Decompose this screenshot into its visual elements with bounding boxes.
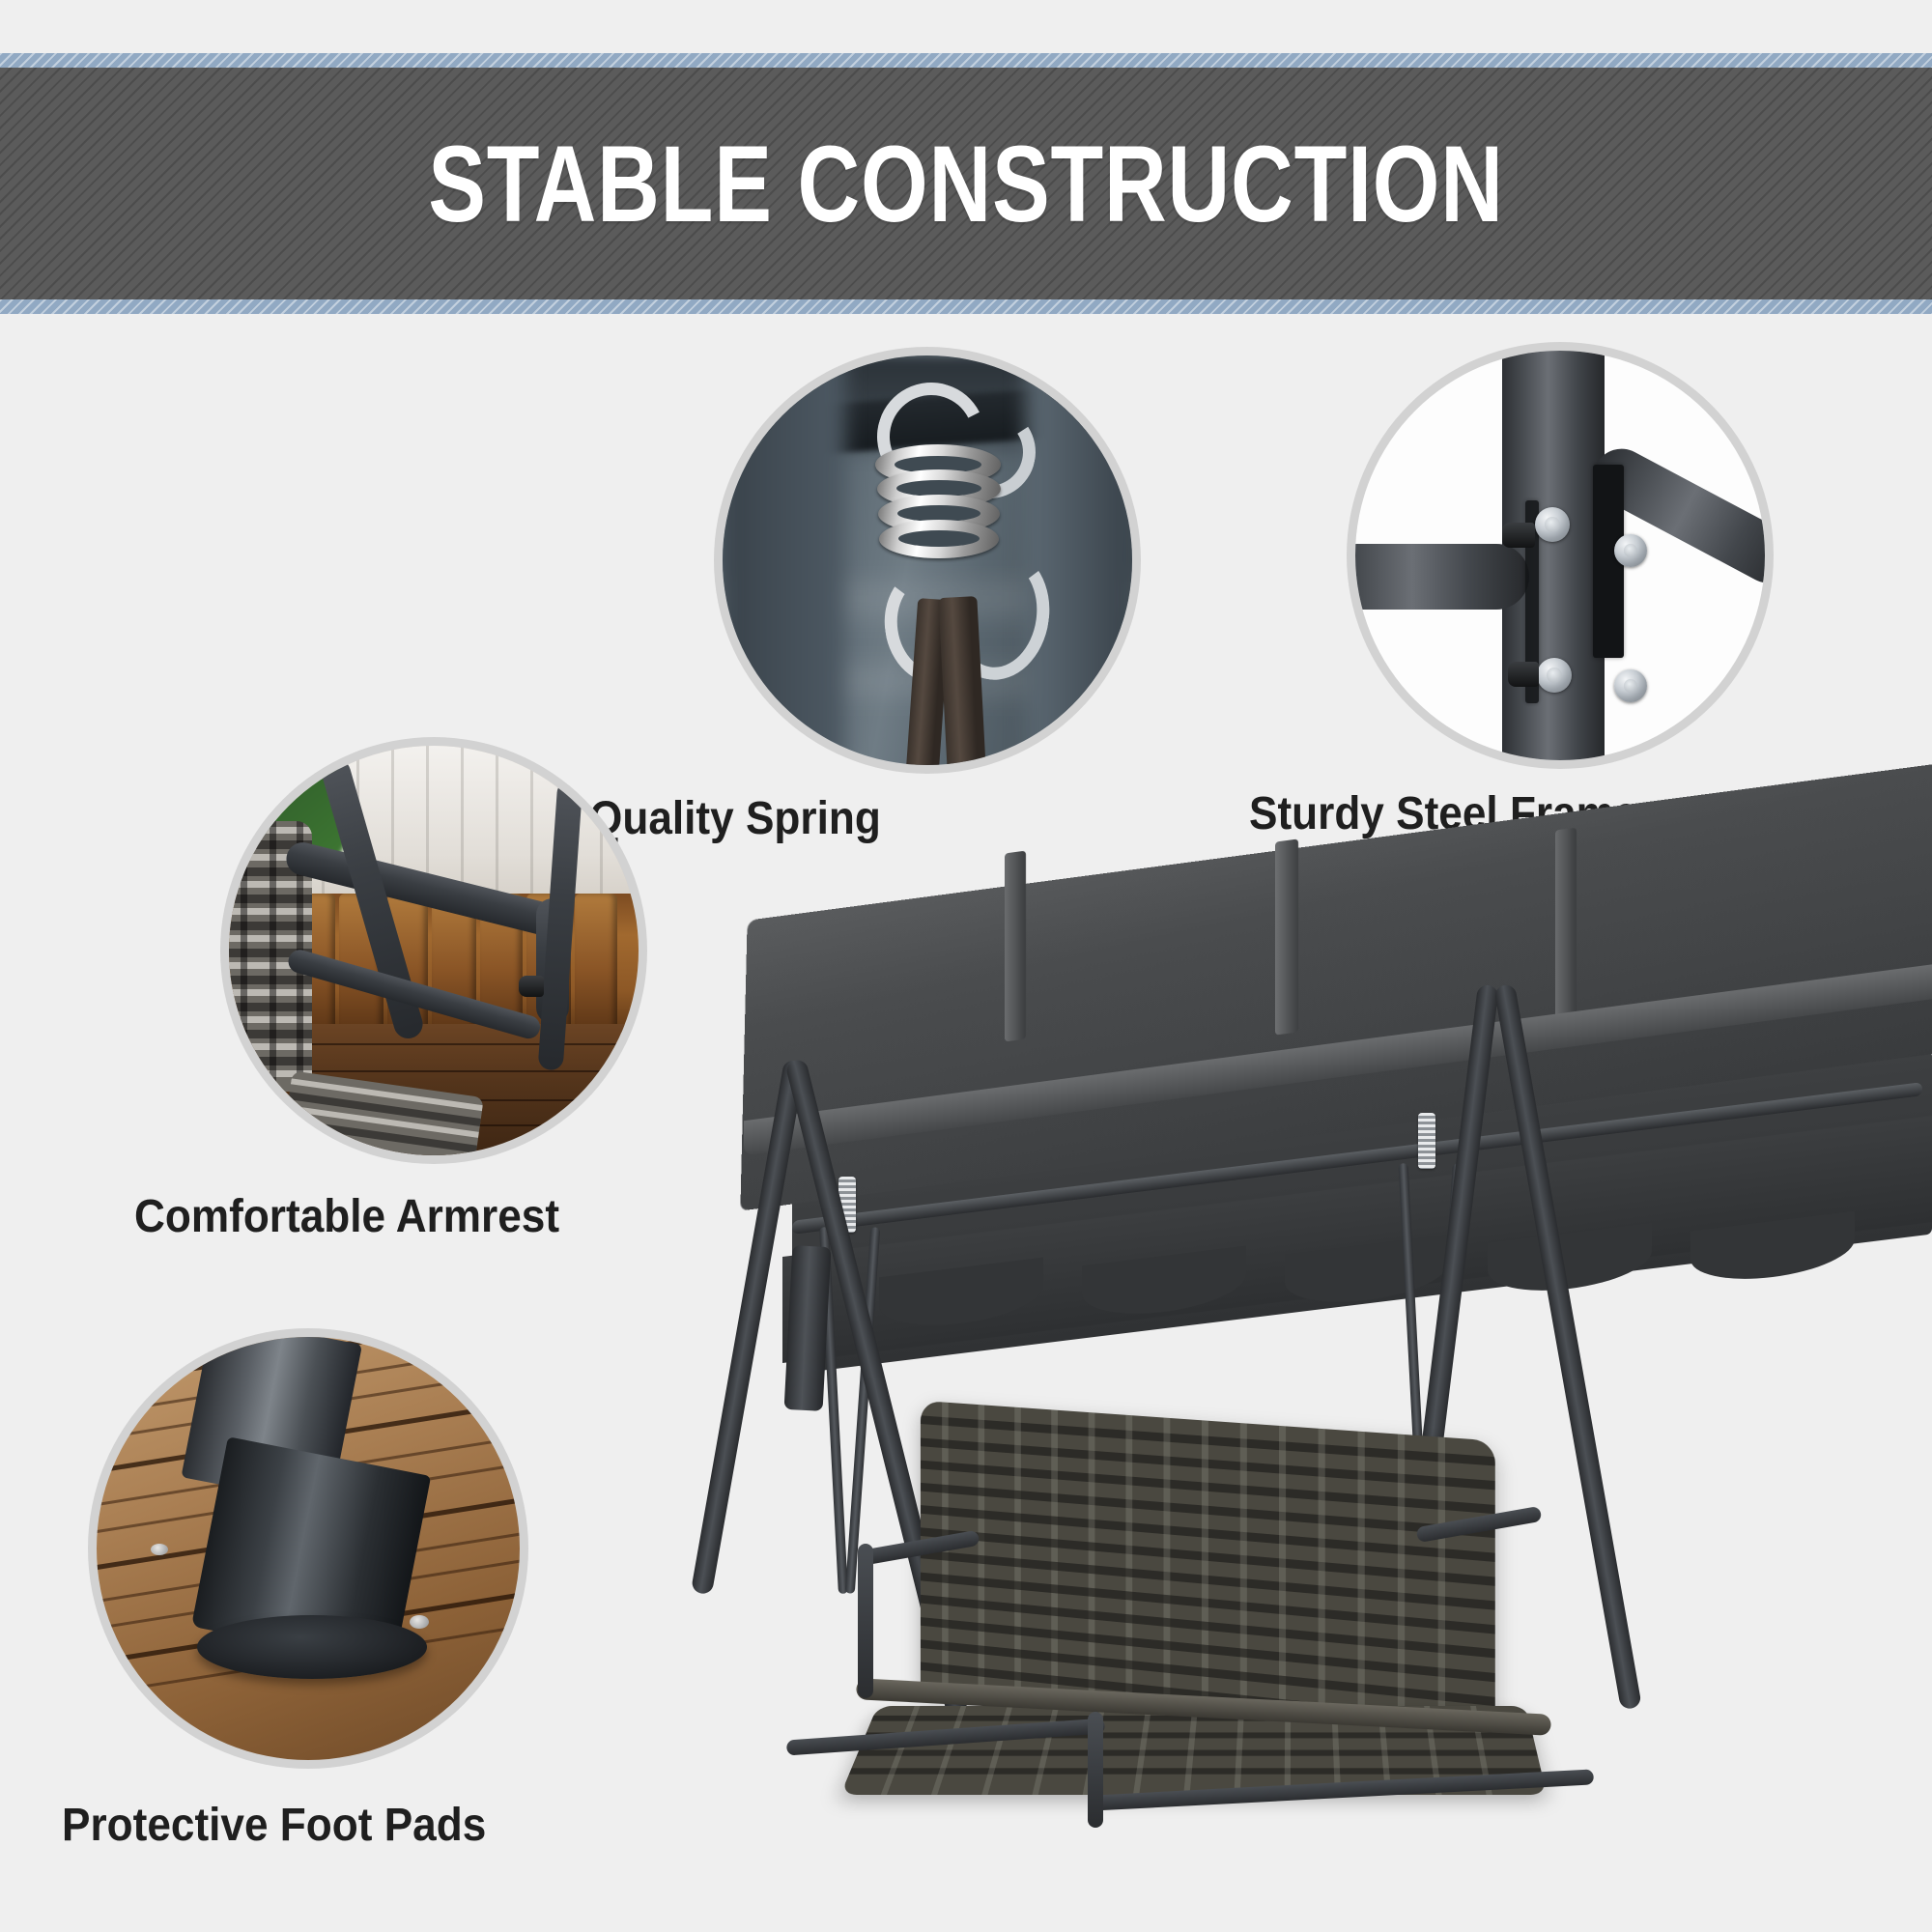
circle-frame-icon-footpad [97,1337,520,1760]
product-image-swing-chair [763,898,1932,1932]
photo-sturdy-steel-frame [1355,351,1765,760]
photo-comfortable-armrest [229,746,639,1155]
bolt-icon [1537,658,1572,693]
page-title: STABLE CONSTRUCTION [193,53,1739,314]
infographic-canvas: STABLE CONSTRUCTION [0,0,1932,1932]
spring-icon [1418,1113,1435,1169]
feature-label-comfortable-armrest: Comfortable Armrest [134,1190,559,1243]
header-banner: STABLE CONSTRUCTION [0,53,1932,314]
bolt-icon [1614,669,1647,702]
photo-protective-foot-pads [97,1337,520,1760]
circle-frame-icon-spring [723,355,1132,765]
bolt-icon [1614,534,1647,567]
photo-quality-spring [723,355,1132,765]
circle-frame-icon-armrest [229,746,639,1155]
feature-label-protective-foot-pads: Protective Foot Pads [62,1799,486,1852]
bolt-icon [1535,507,1570,542]
circle-frame-icon-steel [1355,351,1765,760]
